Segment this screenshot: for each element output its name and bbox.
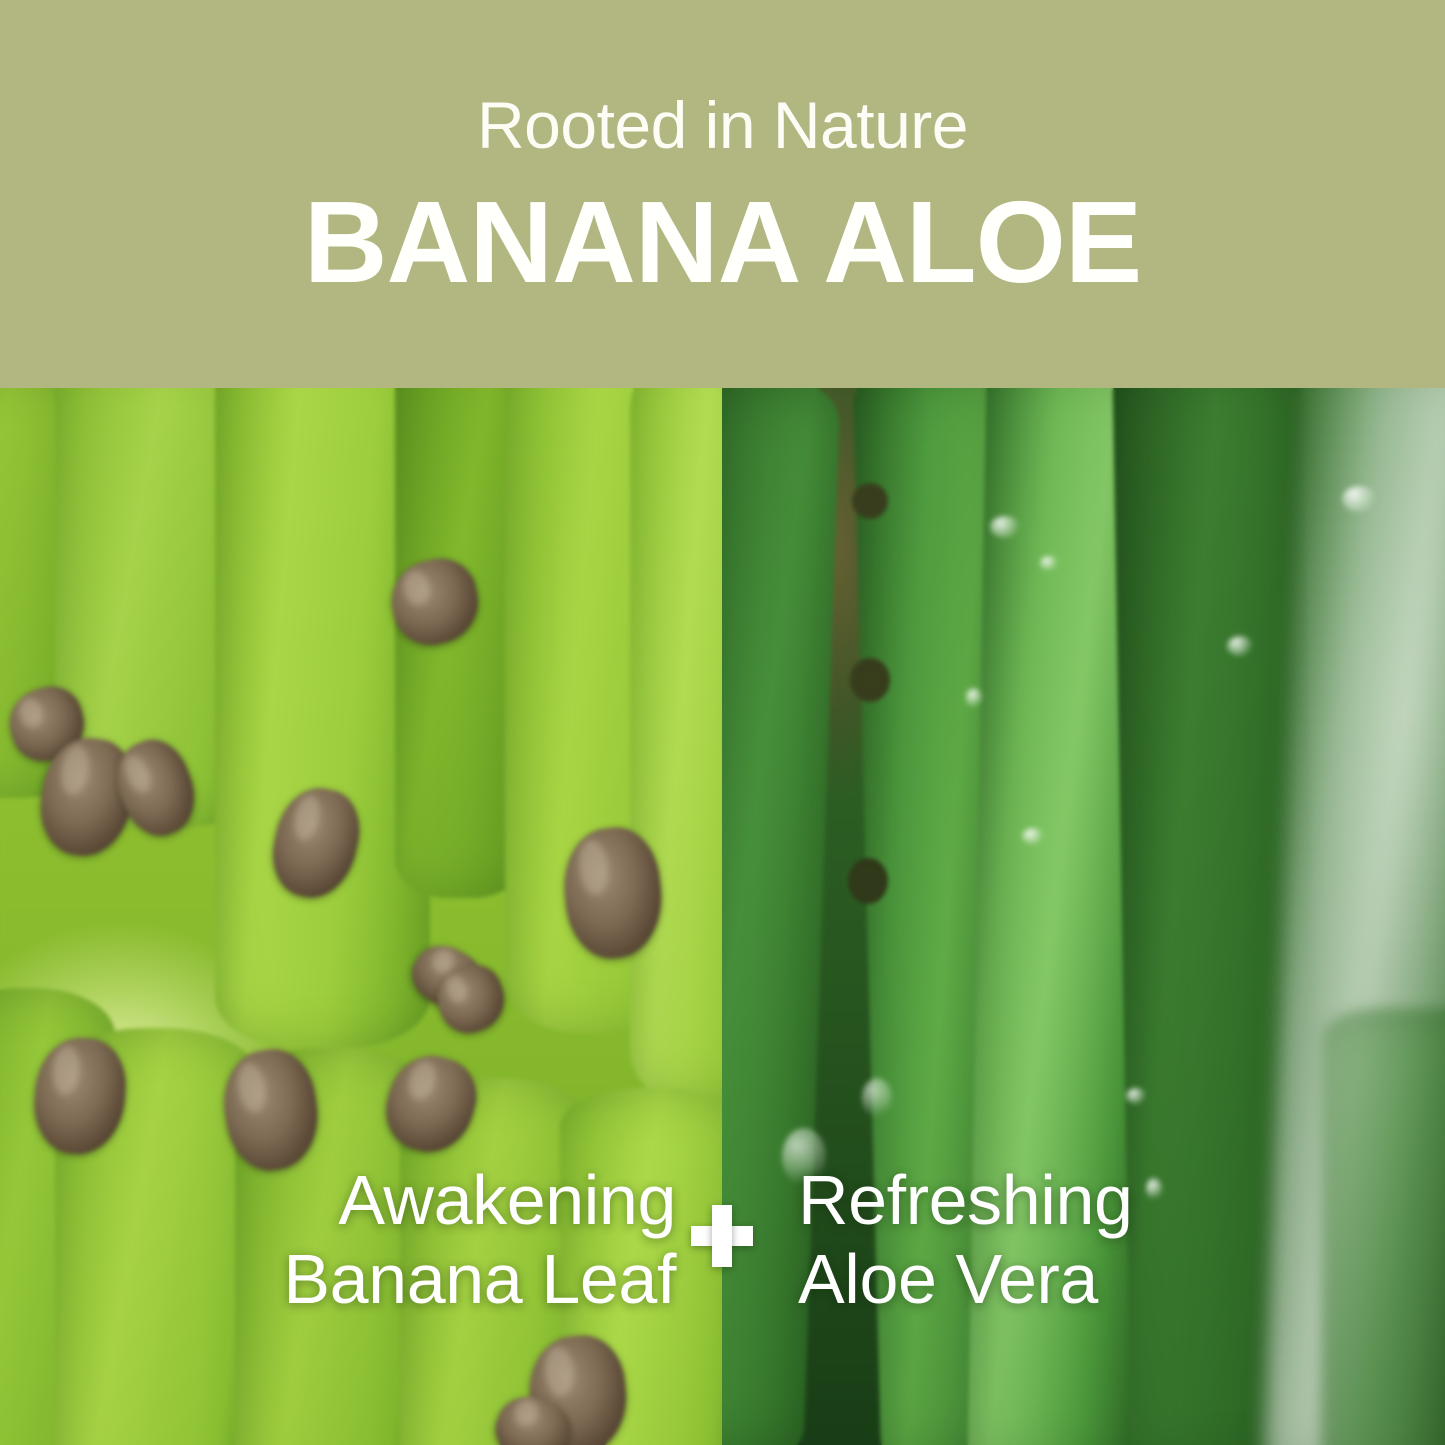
banana-photo-panel: Awakening Banana Leaf [0,388,722,1445]
water-droplet [1146,1178,1162,1200]
water-droplet [1227,636,1253,656]
water-droplet [1022,828,1044,844]
water-droplet [990,516,1020,538]
water-droplet [862,1078,892,1118]
aloe-caption-line1: Refreshing [798,1161,1133,1239]
ingredient-photo-strip: Awakening Banana Leaf [0,388,1445,1445]
plus-icon [691,1205,753,1267]
banana-caption-line2: Banana Leaf [283,1240,676,1319]
water-droplet [1126,1088,1146,1104]
banana-finger [630,388,722,1103]
water-droplet [1342,486,1376,512]
banana-caption-line1: Awakening [338,1161,676,1239]
water-droplet [966,688,982,708]
ingredient-hero-card: Rooted in Nature BANANA ALOE [0,0,1445,1445]
aloe-blade-notch [848,858,888,904]
aloe-photo-panel: Refreshing Aloe Vera [722,388,1445,1445]
banana-caption: Awakening Banana Leaf [283,1161,676,1319]
aloe-blade-notch [852,483,888,519]
page-title: BANANA ALOE [304,184,1141,300]
aloe-caption: Refreshing Aloe Vera [798,1161,1133,1319]
header-banner: Rooted in Nature BANANA ALOE [0,0,1445,388]
plus-icon-vertical-bar [712,1205,732,1267]
aloe-blade-notch [850,658,890,702]
water-droplet [1040,556,1058,570]
aloe-caption-line2: Aloe Vera [798,1240,1133,1319]
banner-eyebrow: Rooted in Nature [477,92,968,158]
aloe-blade [1322,1008,1445,1445]
